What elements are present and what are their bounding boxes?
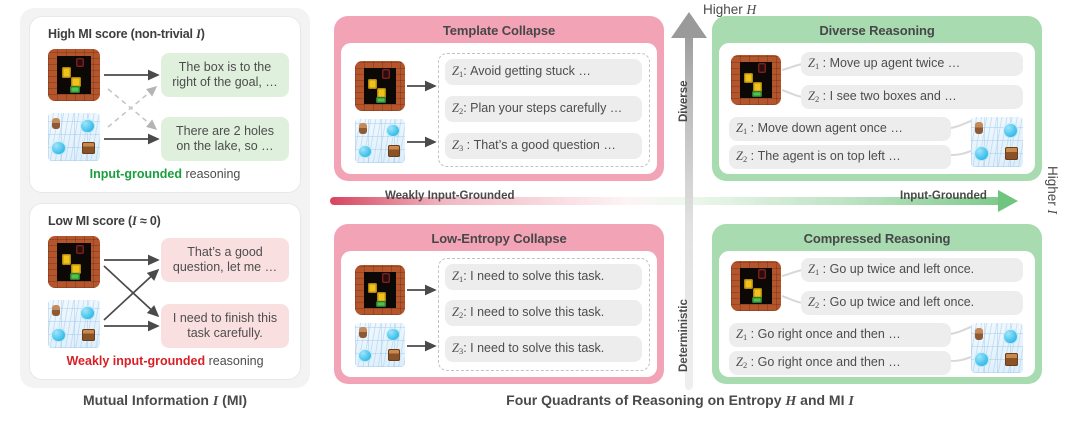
high-mi-footer: Input-grounded reasoning [30, 167, 300, 181]
reasoning-line: Z2 : Go up twice and left once. [801, 291, 1023, 315]
low-mi-footer: Weakly input-grounded reasoning [30, 354, 300, 368]
quadrant-title: Template Collapse [334, 23, 664, 38]
high-mi-bubble: The box is to the right of the goal, … [161, 53, 289, 97]
axis-end-label-higher-entropy: Higher H [703, 2, 756, 18]
quadrant-low-entropy-collapse: Low-Entropy Collapse [334, 224, 664, 384]
reasoning-line: Z1: I need to solve this task. [445, 264, 642, 290]
frozenlake-grid-icon [971, 117, 1023, 167]
axis-label-deterministic: Deterministic [678, 299, 690, 372]
high-mi-arrows [30, 17, 300, 192]
quadrant-template-collapse: Template Collapse [334, 16, 664, 181]
figure-canvas: High MI score (non-trivial I) [0, 0, 1080, 430]
high-mi-card: High MI score (non-trivial I) [30, 17, 300, 192]
axis-arrowhead-icon [998, 190, 1018, 212]
mutual-information-section: High MI score (non-trivial I) [20, 8, 310, 388]
reasoning-line: Z1: Avoid getting stuck … [445, 59, 642, 85]
reasoning-line: Z2 : The agent is on top left … [729, 145, 951, 169]
axis-label-input-grounded: Input-Grounded [900, 190, 987, 202]
figure-caption: Four Quadrants of Reasoning on Entropy H… [330, 392, 1030, 410]
reasoning-line: Z2: Plan your steps carefully … [445, 96, 642, 122]
low-mi-arrows [30, 204, 300, 379]
quadrant-diverse-reasoning: Diverse Reasoning Z1 : Move up agent twi… [712, 16, 1042, 181]
reasoning-line: Z2 : Go right once and then … [729, 351, 951, 375]
reasoning-line: Z1 : Move up agent twice … [801, 52, 1023, 76]
axis-label-diverse: Diverse [678, 80, 690, 122]
reasoning-line: Z3 : That’s a good question … [445, 133, 642, 159]
low-mi-bubble: That’s a good question, let me … [161, 238, 289, 282]
left-section-caption: Mutual Information I (MI) [20, 392, 310, 410]
reasoning-line: Z1 : Move down agent once … [729, 117, 951, 141]
quadrant-body: Z1: I need to solve this task. Z2: I nee… [341, 251, 657, 377]
reasoning-line: Z1 : Go right once and then … [729, 323, 951, 347]
reasoning-line: Z2: I need to solve this task. [445, 300, 642, 326]
reasoning-line: Z2 : I see two boxes and … [801, 85, 1023, 109]
high-mi-bubble: There are 2 holes on the lake, so … [161, 117, 289, 161]
quadrant-title: Low-Entropy Collapse [334, 231, 664, 246]
axis-label-weakly-input-grounded: Weakly Input-Grounded [385, 190, 515, 202]
reasoning-line: Z3: I need to solve this task. [445, 336, 642, 362]
quadrant-body: Z1: Avoid getting stuck … Z2: Plan your … [341, 43, 657, 174]
frozenlake-grid-icon [971, 323, 1023, 373]
quadrant-title: Compressed Reasoning [712, 231, 1042, 246]
quadrant-compressed-reasoning: Compressed Reasoning Z1 : Go up twice an… [712, 224, 1042, 384]
axis-end-label-higher-mi: Higher I [1044, 166, 1060, 214]
low-mi-bubble: I need to finish this task carefully. [161, 304, 289, 348]
quadrant-title: Diverse Reasoning [712, 23, 1042, 38]
reasoning-line: Z1 : Go up twice and left once. [801, 258, 1023, 282]
axis-arrowhead-icon [671, 12, 707, 38]
quadrant-body: Z1 : Go up twice and left once. Z2 : Go … [719, 251, 1035, 377]
quadrant-body: Z1 : Move up agent twice … Z2 : I see tw… [719, 43, 1035, 174]
low-mi-card: Low MI score (I ≈ 0) [30, 204, 300, 379]
